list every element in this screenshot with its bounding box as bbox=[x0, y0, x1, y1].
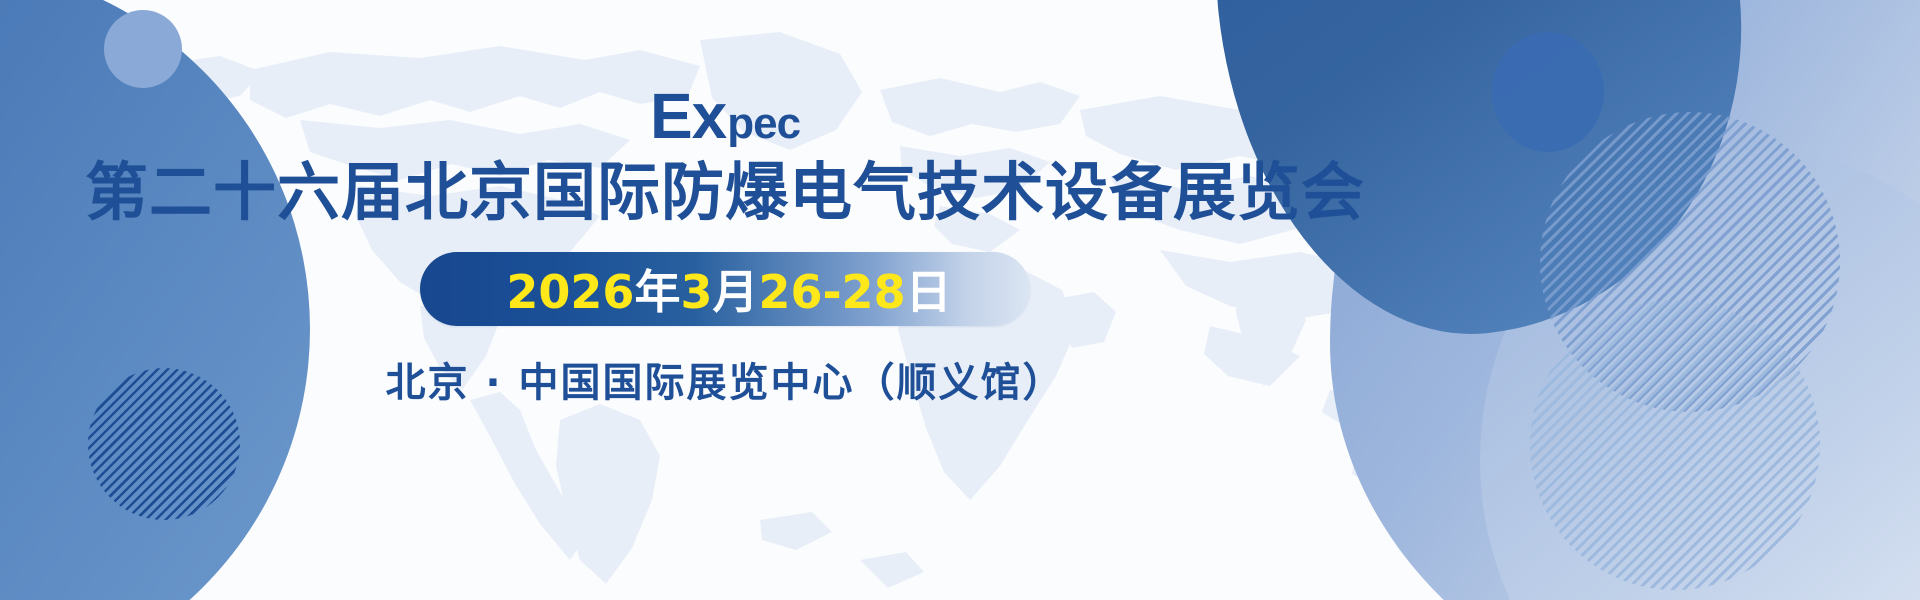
exhibition-banner: Ex pec 第二十六届北京国际防爆电气技术设备展览会 2026年3月26-28… bbox=[0, 0, 1920, 600]
brand-logo-primary: Ex bbox=[650, 88, 726, 146]
event-date-badge: 2026年3月26-28日 bbox=[420, 252, 1030, 326]
circle-hatched-right-lower bbox=[1530, 300, 1820, 590]
page-title: 第二十六届北京国际防爆电气技术设备展览会 bbox=[85, 160, 1365, 226]
circle-decor-right-dark bbox=[1492, 32, 1604, 152]
event-date-text: 2026年3月26-28日 bbox=[506, 256, 951, 322]
brand-logo: Ex pec bbox=[650, 88, 800, 146]
event-date-month: 3 bbox=[680, 265, 712, 319]
event-date-year: 2026 bbox=[506, 265, 634, 319]
event-date-days: 26-28 bbox=[758, 265, 905, 319]
event-date-day-unit: 日 bbox=[906, 265, 952, 319]
banner-content: Ex pec 第二十六届北京国际防爆电气技术设备展览会 2026年3月26-28… bbox=[0, 0, 1450, 600]
event-venue: 北京 · 中国国际展览中心（顺义馆） bbox=[385, 350, 1064, 408]
brand-logo-secondary: pec bbox=[727, 104, 800, 144]
event-date-year-unit: 年 bbox=[634, 265, 680, 319]
event-date-month-unit: 月 bbox=[712, 265, 758, 319]
